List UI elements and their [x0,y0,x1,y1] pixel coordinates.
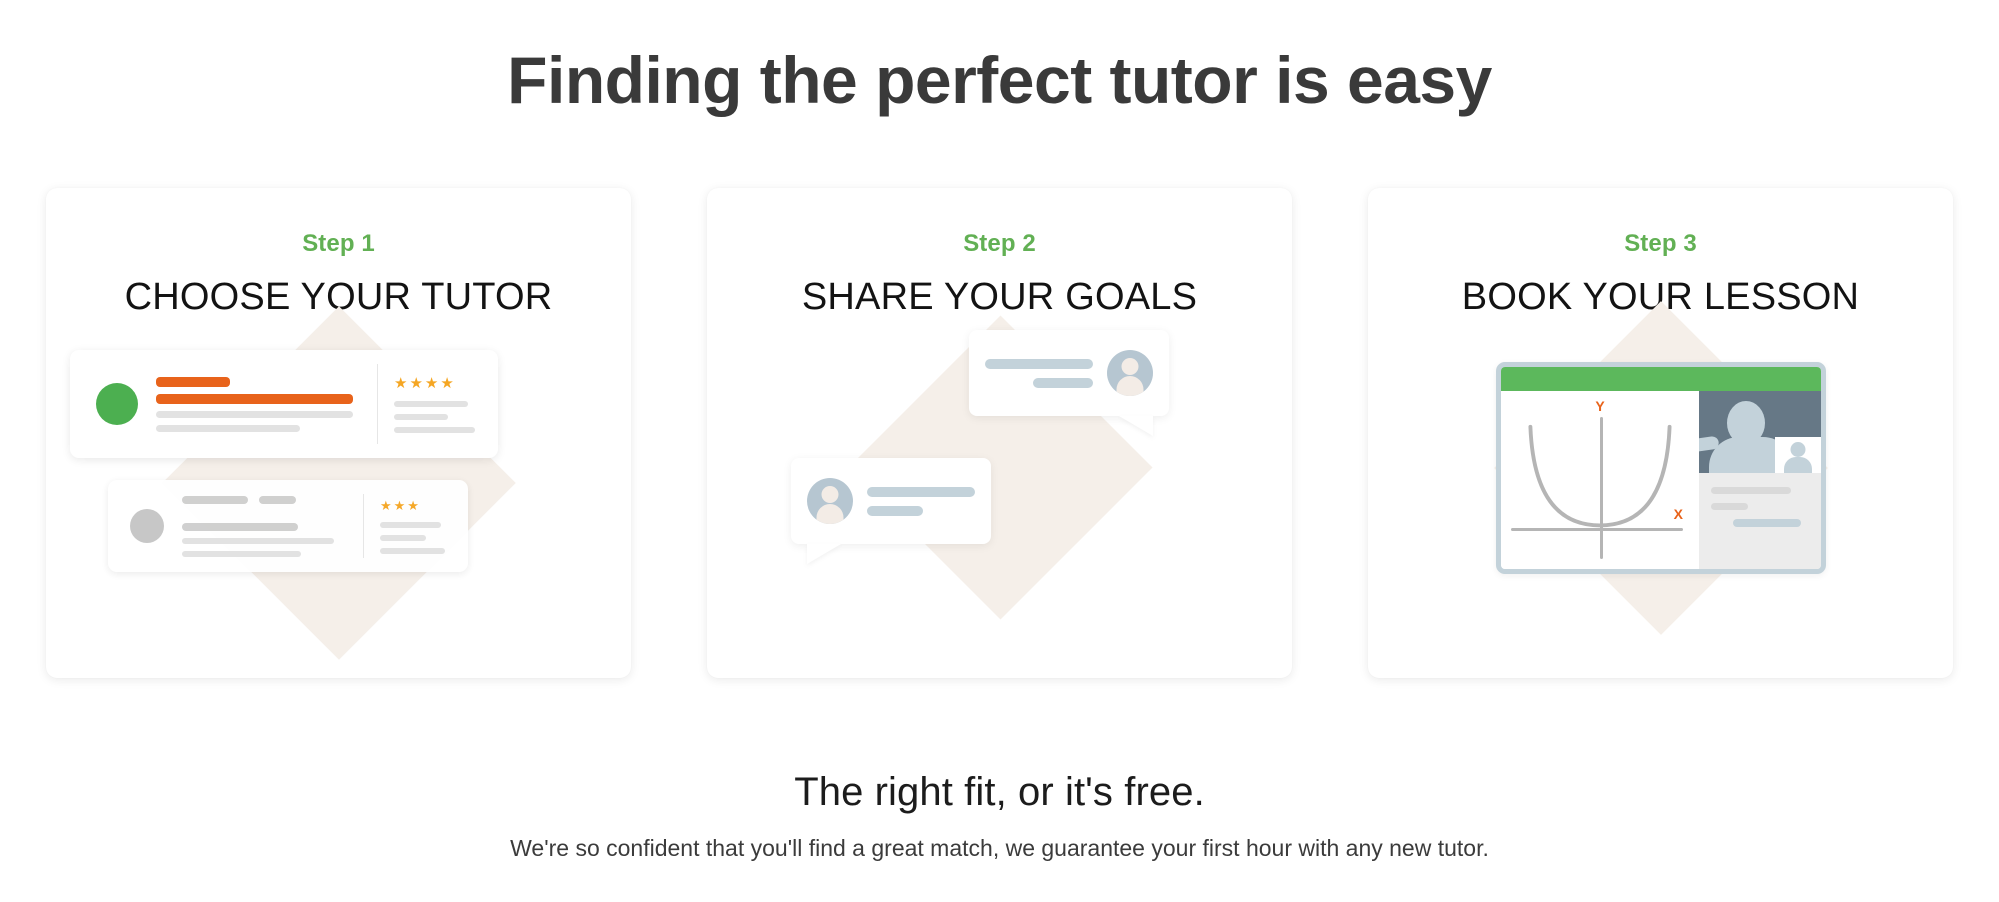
student-video-thumbnail [1775,437,1821,473]
tutor-subject-bar [156,394,353,404]
tutor-desc-bar-2 [156,425,300,432]
bubble-tail-icon [1119,416,1153,436]
chat-text-lines [867,487,975,516]
step-title-2: SHARE YOUR GOALS [707,276,1292,319]
sidebar-line-1 [1711,487,1791,494]
star-rating-icon: ★★★★ [394,376,484,391]
tutor-tag-bar [259,496,295,504]
window-title-bar [1501,367,1821,391]
tutor-video-tile [1699,391,1821,473]
tutor-avatar-icon [130,509,164,543]
chat-line-1 [985,359,1093,369]
rating-bar-1 [394,401,468,407]
step-card-3[interactable]: Step 3 BOOK YOUR LESSON Y X [1368,188,1953,678]
tutor-desc-bar-1 [182,538,334,544]
bubble-tail-icon [807,544,841,564]
tutor-name-bar [156,377,230,387]
student-body-icon [1784,457,1812,473]
page-title: Finding the perfect tutor is easy [0,0,1999,118]
steps-card-row: Step 1 CHOOSE YOUR TUTOR ★★★★ [46,188,1953,678]
rating-bar-3 [380,548,445,554]
y-axis-label: Y [1595,399,1604,413]
rating-bar-2 [380,535,426,541]
illustration-book-your-lesson: Y X [1368,318,1953,678]
illustration-share-your-goals [707,318,1292,678]
rating-bar-1 [380,522,441,528]
sidebar-highlight-line [1733,519,1802,527]
step-card-2[interactable]: Step 2 SHARE YOUR GOALS [707,188,1292,678]
chat-bubble-incoming [969,330,1169,416]
tutor-desc-bar-1 [156,411,353,418]
step-label-3: Step 3 [1368,230,1953,258]
rating-bar-2 [394,414,448,420]
sidebar-line-2 [1711,503,1748,510]
tutor-rating-block: ★★★★ [378,376,498,433]
chat-line-2 [867,506,923,516]
tutor-desc-bar-2 [182,551,301,557]
how-it-works-section: Finding the perfect tutor is easy Step 1… [0,0,1999,902]
tutor-rating-block: ★★★ [364,499,468,554]
guarantee-title: The right fit, or it's free. [0,770,1999,815]
tutor-name-bar [182,496,248,504]
tutor-result-row-secondary[interactable]: ★★★ [108,480,468,572]
star-rating-icon: ★★★ [380,499,454,512]
window-body: Y X [1501,391,1821,569]
video-sidebar [1699,391,1821,569]
parabola-curve-icon [1513,421,1687,547]
step-label-2: Step 2 [707,230,1292,258]
chat-line-2 [1033,378,1093,388]
rating-bar-3 [394,427,475,433]
chat-bubble-outgoing [791,458,991,544]
chat-text-lines [985,359,1093,388]
tutor-result-row-primary[interactable]: ★★★★ [70,350,498,458]
person-avatar-icon [807,478,853,524]
tutor-subject-bar [182,523,298,531]
whiteboard-panel: Y X [1501,391,1699,569]
step-label-1: Step 1 [46,230,631,258]
tutor-avatar-icon [96,383,138,425]
sidebar-text-lines [1699,473,1821,536]
step-card-1[interactable]: Step 1 CHOOSE YOUR TUTOR ★★★★ [46,188,631,678]
student-head-icon [1791,442,1806,457]
guarantee-subtitle: We're so confident that you'll find a gr… [0,835,1999,862]
tutor-info-bars [156,377,361,432]
person-avatar-icon [1107,350,1153,396]
tutor-info-bars [182,496,347,557]
chat-line-1 [867,487,975,497]
online-classroom-window: Y X [1496,362,1826,574]
illustration-choose-your-tutor: ★★★★ [46,318,631,678]
guarantee-section: The right fit, or it's free. We're so co… [0,770,1999,862]
